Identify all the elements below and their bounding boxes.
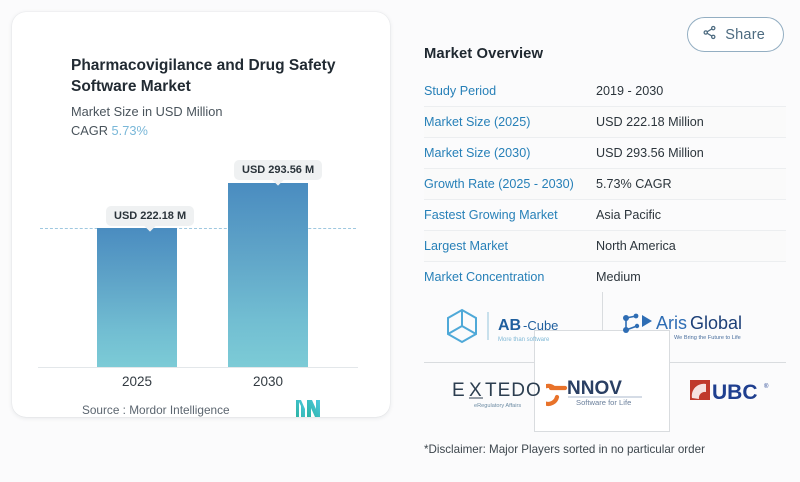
svg-text:TEDO: TEDO xyxy=(485,380,542,401)
row-value: 2019 - 2030 xyxy=(596,76,786,107)
svg-text:Global: Global xyxy=(690,313,742,333)
row-key: Growth Rate (2025 - 2030) xyxy=(424,169,596,200)
chart-card: Pharmacovigilance and Drug Safety Softwa… xyxy=(12,12,390,417)
bar-value-label-2025: USD 222.18 M xyxy=(106,206,194,226)
major-players-grid: AB -Cube More than software Aris Global … xyxy=(424,292,786,432)
svg-text:-Cube: -Cube xyxy=(523,318,558,333)
svg-text:NNOV: NNOV xyxy=(567,378,622,399)
row-value: USD 222.18 Million xyxy=(596,107,786,138)
logo-ubc: UBC ® xyxy=(682,372,778,412)
table-row: Market Concentration Medium xyxy=(424,262,786,293)
bar-2030[interactable] xyxy=(228,183,308,367)
svg-text:UBC: UBC xyxy=(712,381,758,404)
table-row: Study Period 2019 - 2030 xyxy=(424,76,786,107)
svg-text:Software for Life: Software for Life xyxy=(576,398,631,407)
market-overview-table: Study Period 2019 - 2030 Market Size (20… xyxy=(424,76,786,292)
row-key: Market Size (2025) xyxy=(424,107,596,138)
logo-ennov: NNOV Software for Life xyxy=(546,368,662,412)
market-overview-heading: Market Overview xyxy=(424,46,786,62)
row-value: 5.73% CAGR xyxy=(596,169,786,200)
logo-arisglobal: Aris Global We Bring the Future to Life xyxy=(614,306,774,350)
svg-text:More than software: More than software xyxy=(498,337,550,343)
row-value: Medium xyxy=(596,262,786,293)
row-key: Largest Market xyxy=(424,231,596,262)
disclaimer-text: *Disclaimer: Major Players sorted in no … xyxy=(424,443,705,456)
row-key: Market Concentration xyxy=(424,262,596,293)
row-value: USD 293.56 Million xyxy=(596,138,786,169)
logo-abcube: AB -Cube More than software xyxy=(438,304,588,352)
table-row: Growth Rate (2025 - 2030) 5.73% CAGR xyxy=(424,169,786,200)
bar-chart-plot: USD 222.18 M USD 293.56 M 2025 2030 xyxy=(12,12,390,417)
bar-2025[interactable] xyxy=(97,228,177,367)
row-key: Study Period xyxy=(424,76,596,107)
row-key: Fastest Growing Market xyxy=(424,200,596,231)
svg-text:eRegulatory Affairs: eRegulatory Affairs xyxy=(474,403,521,409)
share-button-label: Share xyxy=(725,27,765,43)
table-row: Market Size (2025) USD 222.18 Million xyxy=(424,107,786,138)
svg-text:Aris: Aris xyxy=(656,313,687,333)
svg-text:AB: AB xyxy=(498,317,521,334)
market-overview-panel: Market Overview Study Period 2019 - 2030… xyxy=(424,46,786,292)
svg-text:We Bring the Future to Life: We Bring the Future to Life xyxy=(674,335,741,341)
row-value: North America xyxy=(596,231,786,262)
table-row: Largest Market North America xyxy=(424,231,786,262)
market-report-page: Share Pharmacovigilance and Drug Safety … xyxy=(0,0,800,482)
share-network-icon xyxy=(702,25,717,44)
source-label: Source : Mordor Intelligence xyxy=(82,403,230,417)
svg-text:®: ® xyxy=(764,383,769,390)
table-row: Market Size (2030) USD 293.56 Million xyxy=(424,138,786,169)
table-row: Fastest Growing Market Asia Pacific xyxy=(424,200,786,231)
row-key: Market Size (2030) xyxy=(424,138,596,169)
x-axis-line xyxy=(38,367,358,368)
mordor-intelligence-logo xyxy=(296,400,320,422)
svg-text:E: E xyxy=(452,380,467,401)
bar-value-label-2030: USD 293.56 M xyxy=(234,160,322,180)
x-tick-2025: 2025 xyxy=(97,374,177,389)
row-value: Asia Pacific xyxy=(596,200,786,231)
x-tick-2030: 2030 xyxy=(228,374,308,389)
reference-dashed-line xyxy=(40,228,356,229)
